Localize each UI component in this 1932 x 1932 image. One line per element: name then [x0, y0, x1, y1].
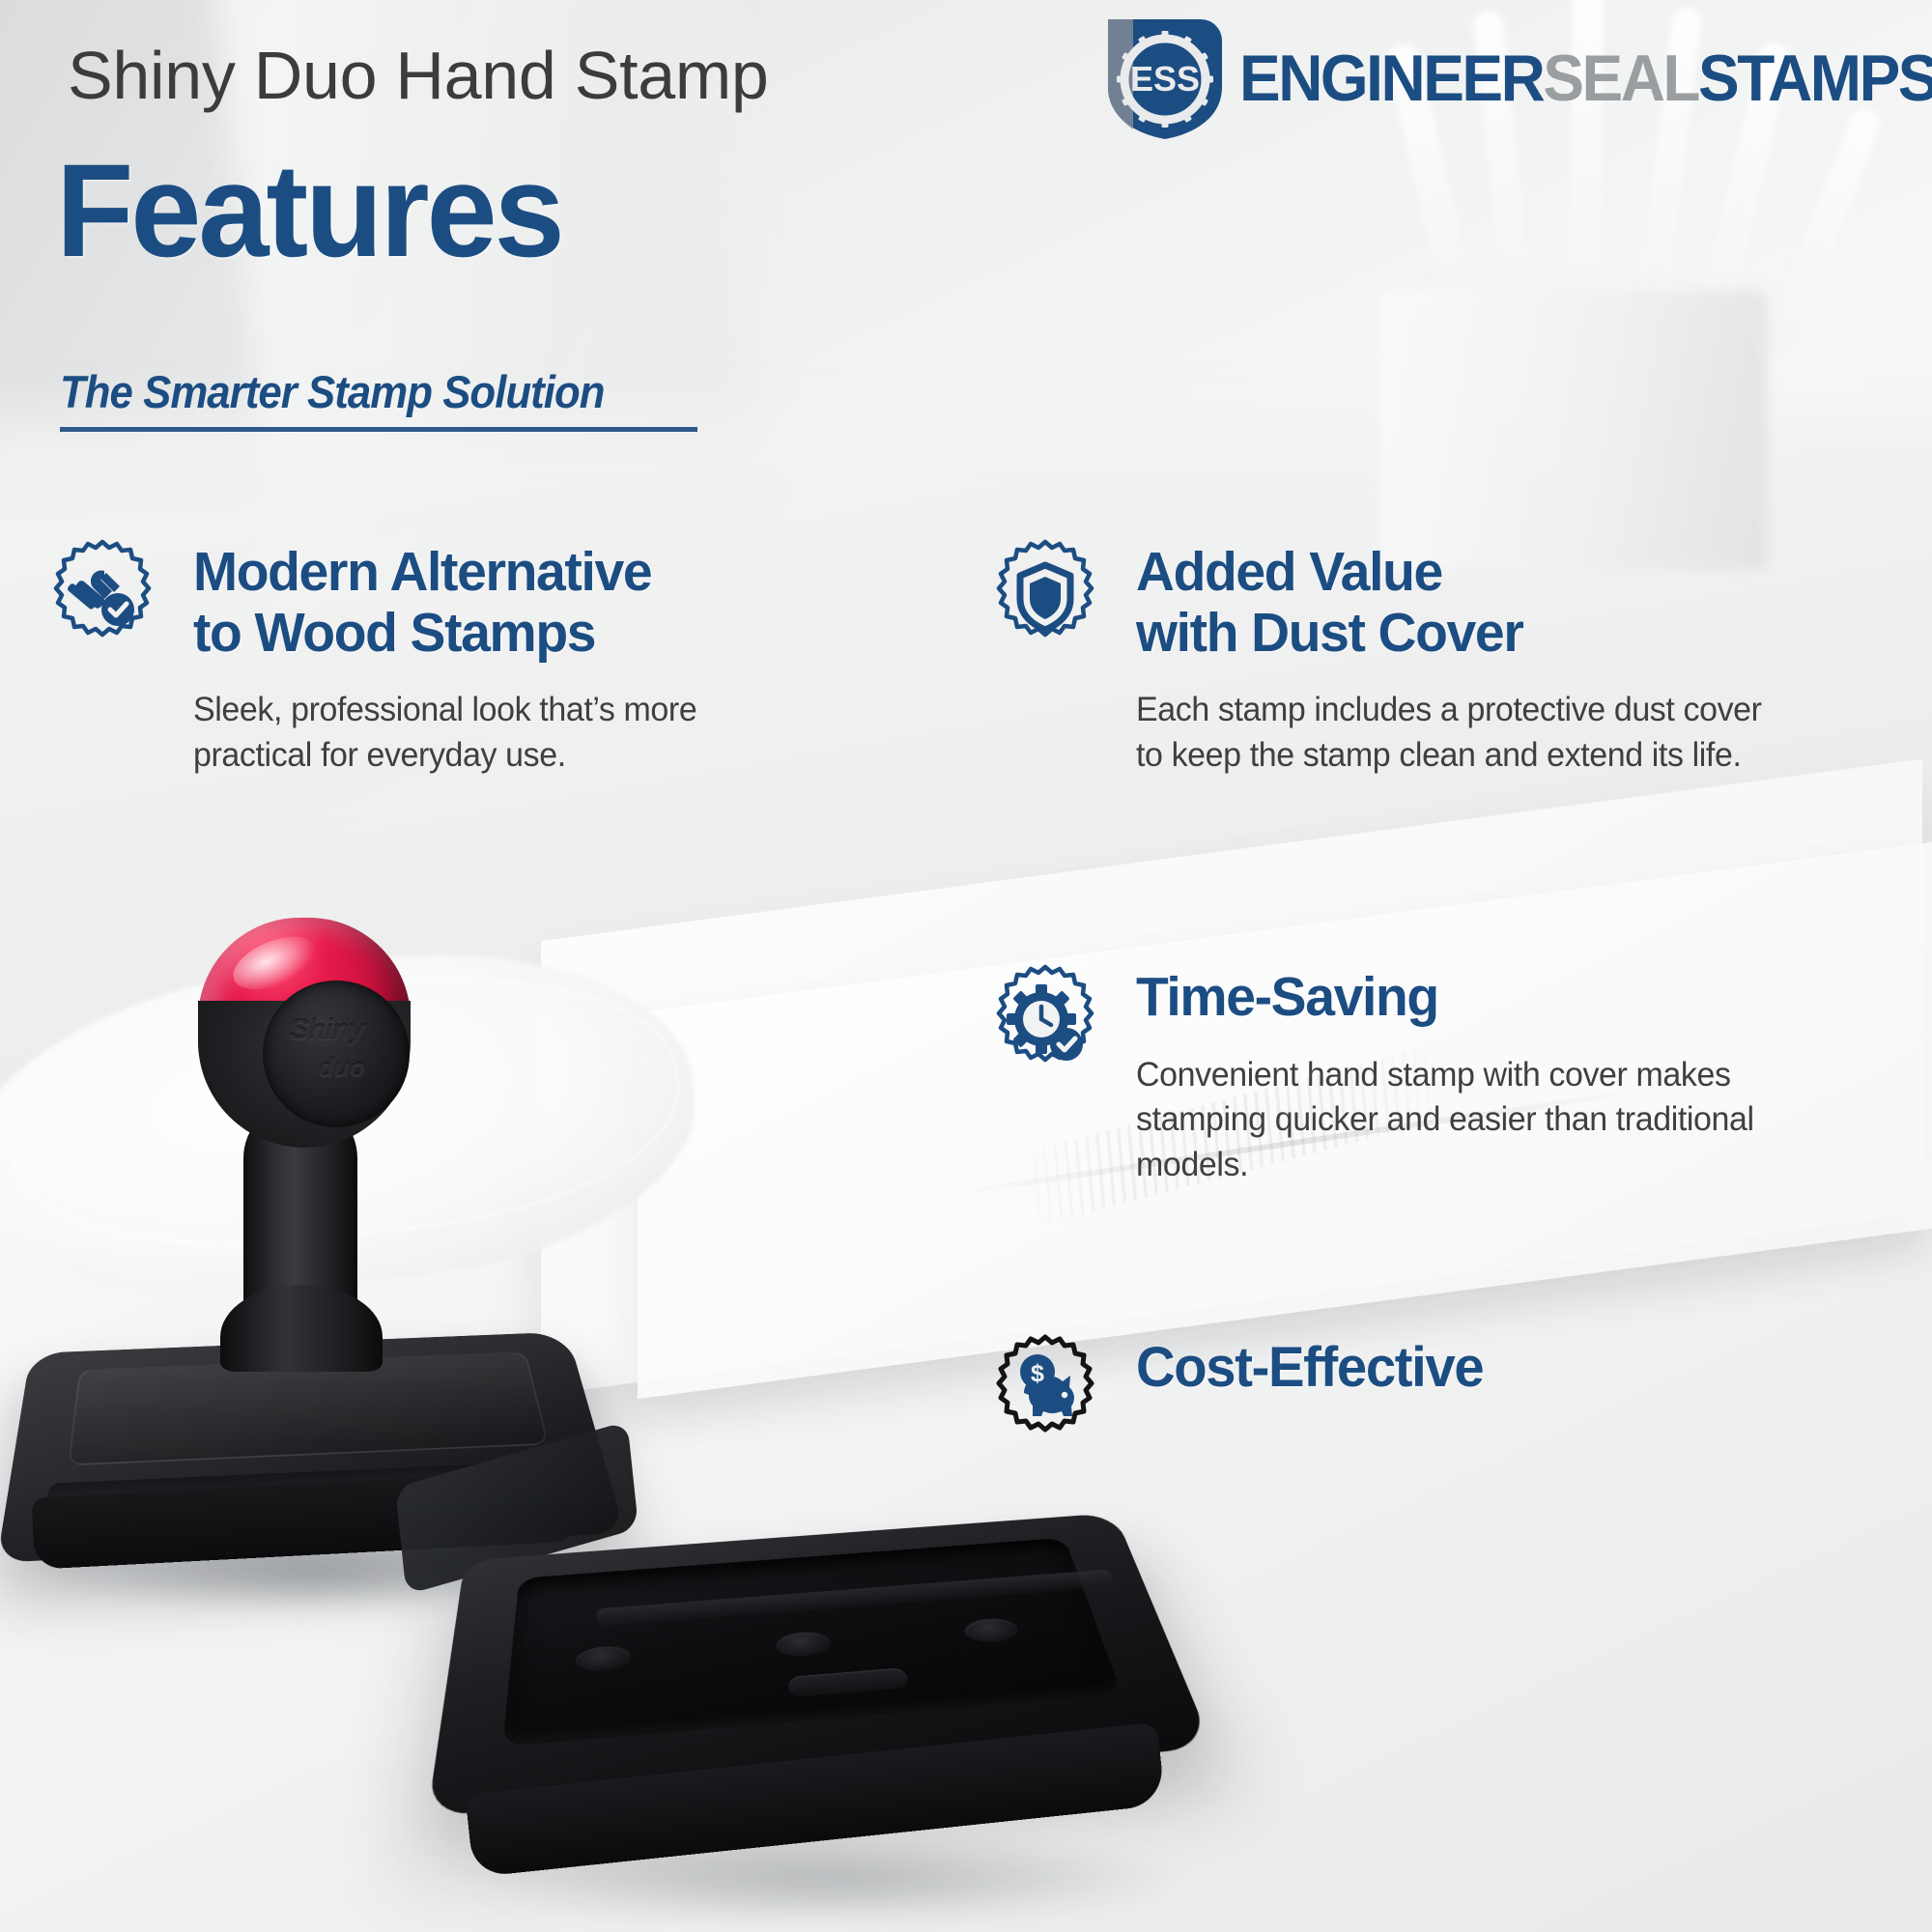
- subtitle-underline: [60, 427, 697, 432]
- dust-cover-peg: [775, 1631, 832, 1659]
- feature-item-modern-alternative: Modern Alternative to Wood Stamps Sleek,…: [41, 536, 929, 778]
- feature-title-line-1: Modern Alternative: [193, 542, 793, 603]
- brand-logo[interactable]: ESS ENGINEERSEALSTAMPS .COM: [1104, 15, 1932, 141]
- feature-text-block: Added Value with Dust Cover Each stamp i…: [1136, 536, 1812, 778]
- dust-cover-peg: [575, 1644, 631, 1672]
- infographic-canvas: Shiny Duo Hand Stamp Features The Smarte…: [0, 0, 1932, 1932]
- feature-text-block: Modern Alternative to Wood Stamps Sleek,…: [193, 536, 811, 778]
- brand-wordmark: ENGINEERSEALSTAMPS .COM: [1239, 41, 1932, 116]
- product-photo-dust-cover: [454, 1468, 1227, 1932]
- wordmark-part-engineer: ENGINEER: [1239, 41, 1543, 116]
- dust-cover-cavity: [502, 1538, 1122, 1747]
- feature-title: Added Value with Dust Cover: [1136, 542, 1792, 663]
- stamp-model-emboss: duo: [319, 1053, 365, 1083]
- wordmark-part-stamps: STAMPS: [1698, 41, 1932, 116]
- dust-cover-peg: [962, 1617, 1021, 1644]
- wordmark-part-seal: SEAL: [1543, 41, 1698, 116]
- dust-cover-inner-ledge: [596, 1570, 1116, 1628]
- feature-title-line-1: Time-Saving: [1136, 967, 1810, 1028]
- page-title: Features: [56, 145, 562, 277]
- background-pen: [1763, 105, 1884, 359]
- piggy-bank-badge-icon: $: [983, 1331, 1107, 1455]
- subtitle: The Smarter Stamp Solution: [60, 365, 653, 418]
- feature-title: Modern Alternative to Wood Stamps: [193, 542, 793, 663]
- feature-title-line-2: with Dust Cover: [1136, 603, 1792, 664]
- feature-text-block: Time-Saving Convenient hand stamp with c…: [1136, 961, 1832, 1187]
- ess-shield-icon: ESS: [1104, 15, 1226, 141]
- feature-item-time-saving: Time-Saving Convenient hand stamp with c…: [983, 961, 1891, 1187]
- product-title: Shiny Duo Hand Stamp: [68, 37, 769, 114]
- gear-clock-check-badge-icon: [983, 961, 1107, 1085]
- dollar-sign-glyph: $: [1031, 1360, 1044, 1387]
- feature-description: Convenient hand stamp with cover makes s…: [1136, 1053, 1810, 1188]
- feature-title: Cost-Effective: [1136, 1337, 1483, 1399]
- background-pen-cup: [1381, 290, 1768, 570]
- ess-shield-text: ESS: [1130, 59, 1200, 99]
- stamp-brand-emboss: Shiny: [290, 1014, 364, 1047]
- feature-title-line-1: Cost-Effective: [1136, 1337, 1483, 1399]
- stamp-check-badge-icon: [41, 536, 164, 660]
- dust-cover-logo-emboss: [787, 1667, 909, 1697]
- feature-title-line-2: to Wood Stamps: [193, 603, 793, 664]
- feature-title-line-1: Added Value: [1136, 542, 1792, 603]
- feature-item-cost-effective: $ Cost-Effective: [983, 1331, 1891, 1455]
- feature-description: Each stamp includes a protective dust co…: [1136, 688, 1792, 778]
- feature-title: Time-Saving: [1136, 967, 1810, 1028]
- feature-text-block: Cost-Effective: [1136, 1331, 1493, 1455]
- feature-description: Sleek, professional look that’s more pra…: [193, 688, 793, 778]
- subtitle-block: The Smarter Stamp Solution: [60, 365, 697, 432]
- shield-badge-icon: [983, 536, 1107, 660]
- feature-item-added-value: Added Value with Dust Cover Each stamp i…: [983, 536, 1891, 778]
